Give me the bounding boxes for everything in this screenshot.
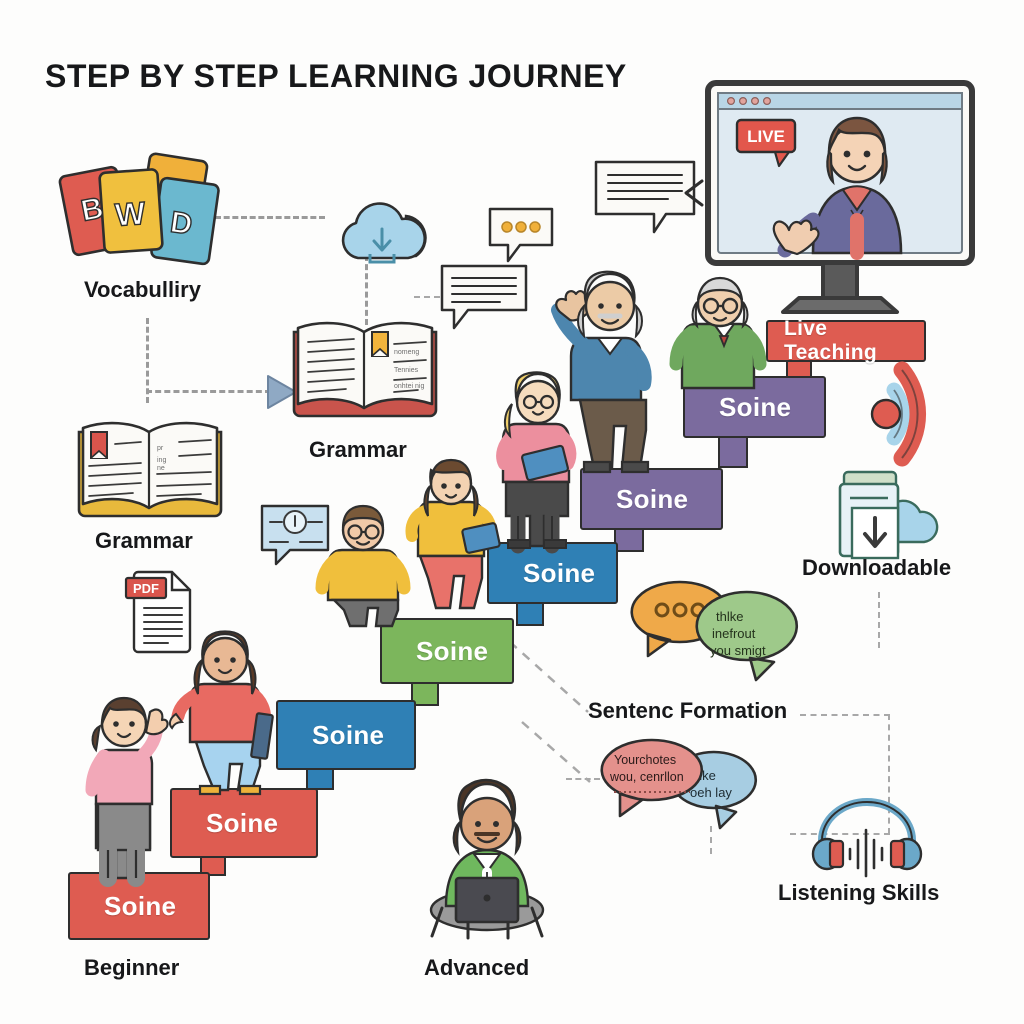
step-label-5: Soine <box>616 484 688 515</box>
bubble-text-line: inefrout <box>712 626 756 641</box>
book-page-text: ing <box>157 457 166 464</box>
headphones-icon <box>812 796 922 876</box>
person-girl-waving <box>78 690 168 880</box>
book-page-text: ne <box>157 465 165 472</box>
listening-caption: Listening Skills <box>778 880 939 906</box>
listening-icon-group[interactable] <box>812 796 922 876</box>
person-man-laptop <box>412 778 562 938</box>
caption-beginner: Beginner <box>84 955 179 981</box>
grammar-book-upper[interactable]: nomeng Tennies onhtei nig <box>290 318 440 423</box>
step-bar-1[interactable]: Soine <box>170 788 318 858</box>
step-label-3: Soine <box>416 636 488 667</box>
person-older-man-pointing <box>552 270 662 470</box>
step-bar-5[interactable]: Soine <box>580 468 723 530</box>
book-page-text: pr <box>157 445 164 452</box>
wifi-signal-icon <box>872 362 982 472</box>
svg-text:LIVE: LIVE <box>747 127 785 146</box>
live-teaching-step[interactable]: Live Teaching <box>766 320 926 362</box>
cloud-download-upper[interactable] <box>328 196 438 272</box>
page-title: STEP BY STEP LEARNING JOURNEY <box>45 58 627 95</box>
red-bubble[interactable]: Yourchotes wou, cenrllon <box>598 736 708 822</box>
speech-bubble-icon: thlke inefrout you smigt <box>692 588 802 684</box>
book-page-text: Tennies <box>394 367 419 374</box>
vocabulary-flashcards-group[interactable]: B W D <box>60 155 230 275</box>
step-bar-2[interactable]: Soine <box>276 700 416 770</box>
grammar-caption-upper: Grammar <box>309 437 407 463</box>
cloud-download-icon <box>328 196 438 272</box>
connector-step-to-sentence <box>508 640 598 720</box>
speech-bubble-icon <box>438 262 530 332</box>
step-label-1: Soine <box>206 808 278 839</box>
chevron-left-icon <box>680 178 706 208</box>
bubble-text-line: you smigt <box>710 643 766 658</box>
downloadable-caption: Downloadable <box>802 555 951 581</box>
step-label-6: Soine <box>719 392 791 423</box>
connector-vocabulary-to-cloud <box>215 216 325 219</box>
cloud-download-icon <box>826 470 942 562</box>
book-page-text: onhtei nig <box>394 383 424 390</box>
lines-bubble-left[interactable] <box>438 262 530 332</box>
green-bubble[interactable]: thlke inefrout you smigt <box>692 588 802 684</box>
bubble-text-line: thlke <box>716 609 743 624</box>
step-label-2: Soine <box>312 720 384 751</box>
step-riser-2 <box>306 770 334 790</box>
person-older-man-green <box>672 278 768 388</box>
step-label-0: Soine <box>104 891 176 922</box>
grammar-book-lower[interactable]: pr ing ne <box>75 418 225 523</box>
caption-advanced: Advanced <box>424 955 529 981</box>
speech-bubble-icon <box>486 205 556 267</box>
step-riser-5 <box>614 530 644 552</box>
connector-to-red-bubble <box>566 778 600 780</box>
vocabulary-caption: Vocabulliry <box>84 277 201 303</box>
open-book-icon: nomeng Tennies onhtei nig <box>290 318 440 423</box>
svg-text:W: W <box>114 195 147 233</box>
speech-bubble-icon: Yourchotes wou, cenrllon <box>598 736 708 822</box>
ellipsis-bubble-white[interactable] <box>486 205 556 267</box>
sentence-formation-caption: Sentenc Formation <box>588 698 787 724</box>
wifi-signal[interactable] <box>872 362 982 472</box>
svg-text:D: D <box>168 206 194 242</box>
step-riser-4 <box>516 604 544 626</box>
connector-bubble-left <box>414 296 440 298</box>
open-book-icon: pr ing ne <box>75 418 225 523</box>
bubble-text-line: wou, cenrllon <box>609 770 684 784</box>
grammar-caption-lower: Grammar <box>95 528 193 554</box>
connector-downloadable-down <box>878 592 880 648</box>
connector-vocabulary-to-book <box>146 390 271 393</box>
bubble-text-line: Yourchotes <box>614 753 676 767</box>
flashcards-icon: B W D <box>60 155 230 275</box>
step-riser-6 <box>718 438 748 468</box>
person-woman-with-book <box>176 630 281 795</box>
connector-sentence-right <box>800 714 890 716</box>
downloadable-icon-group[interactable] <box>826 470 942 562</box>
person-man-yellow <box>318 506 414 626</box>
infographic-canvas: STEP BY STEP LEARNING JOURNEY B W <box>0 0 1024 1024</box>
live-teaching-label: Live Teaching <box>784 317 924 365</box>
step-bar-3[interactable]: Soine <box>380 618 514 684</box>
person-woman-tablet <box>408 460 502 610</box>
pdf-badge-label: PDF <box>133 581 159 596</box>
step-label-4: Soine <box>523 558 595 589</box>
book-page-text: nomeng <box>394 349 419 356</box>
